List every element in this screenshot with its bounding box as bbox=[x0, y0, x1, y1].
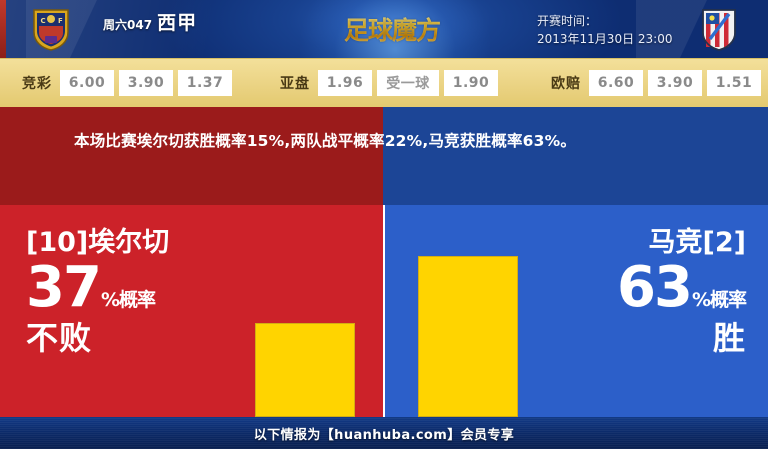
odds-cell[interactable]: 3.90 bbox=[119, 70, 173, 96]
home-team-panel: [10]埃尔切 37 %概率 不败 bbox=[0, 205, 383, 417]
away-outcome-label: 胜 bbox=[617, 319, 746, 357]
kickoff-value: 2013年11月30日 23:00 bbox=[537, 30, 672, 48]
match-league: 西甲 bbox=[157, 14, 197, 33]
match-preview-graphic: C F 周六047 西甲 足球魔方 开赛时间： 2013年11月30日 23:0… bbox=[0, 0, 768, 449]
home-team-stats: [10]埃尔切 37 %概率 不败 bbox=[26, 227, 169, 357]
odds-group-oupei: 欧赔 6.60 3.90 1.51 bbox=[551, 70, 761, 96]
kickoff-label: 开赛时间： bbox=[537, 12, 672, 30]
probability-chart: [10]埃尔切 37 %概率 不败 马竞[2] 63 %概率 胜 bbox=[0, 205, 768, 417]
odds-cell-handicap[interactable]: 受一球 bbox=[377, 70, 439, 96]
summary-text: 本场比赛埃尔切获胜概率15%,两队战平概率22%,马竞获胜概率63%。 bbox=[74, 127, 720, 155]
home-team-crest-icon: C F bbox=[28, 6, 74, 52]
away-probability-row: 63 %概率 bbox=[617, 261, 746, 315]
odds-cell[interactable]: 3.90 bbox=[648, 70, 702, 96]
away-probability-value: 63 bbox=[617, 261, 691, 315]
odds-cell[interactable]: 1.51 bbox=[707, 70, 761, 96]
match-label: 周六047 西甲 bbox=[103, 14, 197, 33]
away-probability-bar bbox=[418, 256, 518, 417]
odds-cell[interactable]: 6.00 bbox=[60, 70, 114, 96]
odds-group-title: 竞彩 bbox=[22, 73, 52, 93]
summary-banner-right-half bbox=[383, 107, 768, 205]
away-team-stats: 马竞[2] 63 %概率 胜 bbox=[617, 227, 746, 357]
away-team-crest-icon bbox=[696, 6, 742, 52]
home-probability-value: 37 bbox=[26, 261, 100, 315]
summary-banner: 本场比赛埃尔切获胜概率15%,两队战平概率22%,马竞获胜概率63%。 bbox=[0, 107, 768, 205]
odds-group-yapan: 亚盘 1.96 受一球 1.90 bbox=[280, 70, 498, 96]
odds-cell[interactable]: 1.37 bbox=[178, 70, 232, 96]
away-probability-unit: %概率 bbox=[692, 291, 746, 310]
match-round: 周六047 bbox=[103, 19, 152, 33]
odds-group-title: 欧赔 bbox=[551, 73, 581, 93]
odds-bar: 竞彩 6.00 3.90 1.37 亚盘 1.96 受一球 1.90 欧赔 6.… bbox=[0, 58, 768, 108]
kickoff-time: 开赛时间： 2013年11月30日 23:00 bbox=[537, 12, 672, 48]
odds-cell[interactable]: 1.90 bbox=[444, 70, 498, 96]
svg-text:F: F bbox=[58, 17, 63, 25]
svg-text:C: C bbox=[41, 17, 46, 25]
odds-cell[interactable]: 6.60 bbox=[589, 70, 643, 96]
odds-group-jingcai: 竞彩 6.00 3.90 1.37 bbox=[22, 70, 232, 96]
odds-cell[interactable]: 1.96 bbox=[318, 70, 372, 96]
footer-bar: 以下情报为【huanhuba.com】会员专享 bbox=[0, 417, 768, 449]
brand-logo-text: 足球魔方 bbox=[344, 11, 440, 47]
away-team-panel: 马竞[2] 63 %概率 胜 bbox=[385, 205, 768, 417]
home-probability-bar bbox=[255, 323, 355, 417]
brand-logo: 足球魔方 bbox=[331, 10, 453, 48]
odds-group-title: 亚盘 bbox=[280, 73, 310, 93]
summary-banner-left-half bbox=[0, 107, 383, 205]
home-probability-row: 37 %概率 bbox=[26, 261, 169, 315]
home-probability-unit: %概率 bbox=[101, 291, 155, 310]
home-outcome-label: 不败 bbox=[26, 319, 169, 357]
header-bar: C F 周六047 西甲 足球魔方 开赛时间： 2013年11月30日 23:0… bbox=[0, 0, 768, 58]
footer-text: 以下情报为【huanhuba.com】会员专享 bbox=[254, 424, 514, 443]
